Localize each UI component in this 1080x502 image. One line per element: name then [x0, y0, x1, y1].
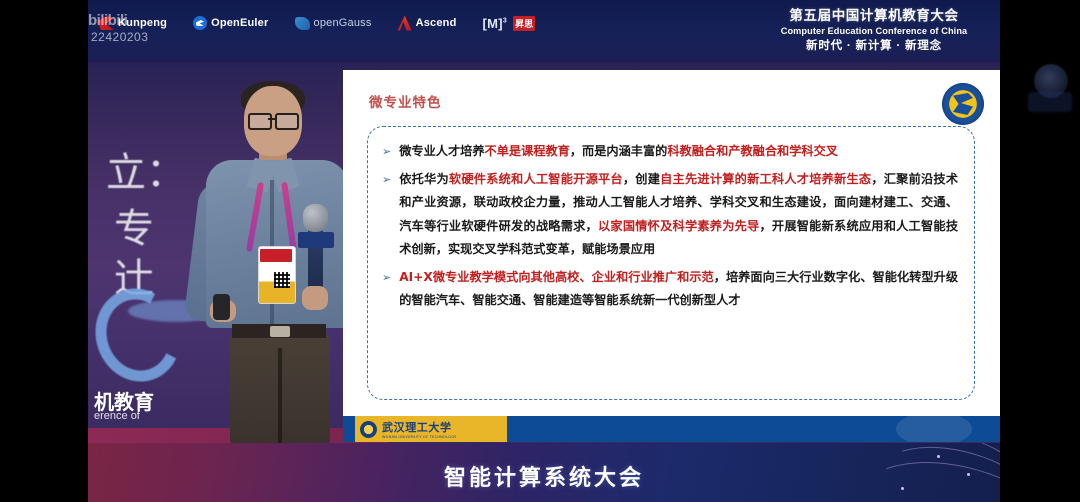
bullet-segment: 微专业人才培养 — [399, 144, 484, 158]
sponsor-label: OpenEuler — [211, 17, 268, 29]
bullet-segment-highlight: 软硬件系统和人工智能开源平台 — [449, 172, 623, 186]
slide-bullet-1: ➢ 微专业人才培养不单是课程教育，而是内涵丰富的科教融合和产教融合和学科交叉 — [368, 140, 974, 164]
slide-content-box: ➢ 微专业人才培养不单是课程教育，而是内涵丰富的科教融合和产教融合和学科交叉 ➢… — [367, 126, 975, 400]
bullet-arrow-icon: ➢ — [382, 140, 391, 164]
mindspore-label-cn: 昇思 — [513, 16, 535, 31]
right-letterbox-bar — [1000, 0, 1080, 502]
opengauss-icon — [295, 17, 310, 30]
bullet-segment-highlight: 以家国情怀及科学素养为先导 — [598, 219, 760, 233]
bullet-arrow-icon: ➢ — [382, 266, 391, 290]
bullet-segment: ，而是内涵丰富的 — [570, 144, 668, 158]
faint-logo-text-icon — [1028, 92, 1072, 112]
bullet-arrow-icon: ➢ — [382, 168, 391, 192]
slide-footer-university-logo: 武汉理工大学 WUHAN UNIVERSITY OF TECHNOLOGY — [355, 416, 507, 442]
qr-code-icon — [274, 272, 290, 288]
speaker-badge-header — [260, 249, 292, 262]
sponsor-logo-strip: Kunpeng OpenEuler openGauss Ascend [M]3 — [98, 10, 535, 36]
sponsor-label: openGauss — [314, 17, 372, 29]
microphone-head-icon — [303, 204, 328, 232]
sponsor-mindspore: [M]3 昇思 — [483, 12, 536, 34]
slide-bullet-3: ➢ AI+X微专业教学模式向其他高校、企业和行业推广和示范，培养面向三大行业数字… — [368, 266, 974, 313]
speaker-right-hand — [302, 286, 328, 310]
bullet-segment: 依托华为 — [399, 172, 449, 186]
eyeglasses-right-lens — [275, 113, 299, 130]
bullet-text: 依托华为软硬件系统和人工智能开源平台，创建自主先进计算的新工科人才培养新生态，汇… — [399, 168, 958, 262]
screenshot-root: 立： 专 辻 员会 员会 导委员 导委员会 机教育 erence of 第五届中… — [0, 0, 1080, 502]
speaker-belt-buckle — [270, 326, 290, 337]
bilibili-watermark: bilibili — [88, 12, 127, 29]
slide-footer-bar: 武汉理工大学 WUHAN UNIVERSITY OF TECHNOLOGY — [343, 416, 1000, 442]
conference-title-cn: 第五届中国计算机教育大会 — [748, 8, 1000, 24]
presentation-slide[interactable]: 微专业特色 ➢ 微专业人才培养不单是课程教育，而是内涵丰富的科教融合和产教融合和… — [343, 70, 1000, 442]
bullet-segment-highlight: AI+X微专业教学模式向其他高校、企业和行业推广和示范 — [399, 270, 714, 284]
bullet-segment-highlight: 不单是课程教育 — [485, 144, 570, 158]
speaker-leg-split — [278, 348, 282, 443]
conference-slogan: 新时代 · 新计算 · 新理念 — [748, 40, 1000, 53]
bullet-text: 微专业人才培养不单是课程教育，而是内涵丰富的科教融合和产教融合和学科交叉 — [399, 140, 958, 164]
bullet-text: AI+X微专业教学模式向其他高校、企业和行业推广和示范，培养面向三大行业数字化、… — [399, 266, 958, 313]
sponsor-ascend: Ascend — [398, 12, 457, 34]
ascend-icon — [398, 16, 412, 31]
slide-bullet-2: ➢ 依托华为软硬件系统和人工智能开源平台，创建自主先进计算的新工科人才培养新生态… — [368, 168, 974, 262]
bullet-segment: ，创建 — [623, 172, 660, 186]
university-name-en: WUHAN UNIVERSITY OF TECHNOLOGY — [382, 435, 456, 439]
sponsor-label: Ascend — [416, 17, 457, 29]
eyeglasses-bridge — [268, 118, 275, 120]
conference-header: 第五届中国计算机教育大会 Computer Education Conferen… — [748, 8, 1000, 53]
left-letterbox-bar — [0, 0, 88, 502]
openeuler-icon — [193, 16, 207, 30]
bilibili-uid: 22420203 — [91, 30, 148, 44]
slide-title: 微专业特色 — [369, 91, 442, 111]
eyeglasses-left-lens — [248, 113, 272, 130]
mindspore-icon: [M]3 — [483, 16, 508, 31]
bullet-segment-highlight: 自主先进计算的新工科人才培养新生态 — [660, 172, 871, 186]
university-name: 武汉理工大学 WUHAN UNIVERSITY OF TECHNOLOGY — [382, 419, 456, 439]
backdrop-c-logo-icon — [88, 277, 192, 392]
university-name-cn: 武汉理工大学 — [382, 421, 452, 434]
mindspore-sup: 3 — [503, 17, 507, 24]
banner-title: 智能计算系统大会 — [88, 460, 1000, 492]
bullet-segment-highlight: 科教融合和产教融合和学科交叉 — [667, 144, 838, 158]
backdrop-char: 立： — [106, 140, 186, 198]
university-seal-small-icon — [360, 421, 377, 438]
banner-spark — [937, 455, 940, 458]
microphone-flag — [298, 232, 334, 248]
slide-footer-watermark — [896, 412, 972, 442]
sponsor-opengauss: openGauss — [295, 12, 372, 34]
mindspore-label: [M] — [483, 16, 503, 31]
conference-title-en: Computer Education Conference of China — [748, 26, 1000, 37]
university-seal-icon — [942, 83, 984, 125]
presentation-clicker — [213, 294, 230, 320]
video-frame[interactable]: 立： 专 辻 员会 员会 导委员 导委员会 机教育 erence of 第五届中… — [88, 0, 1000, 502]
bottom-conference-banner: 智能计算系统大会 — [88, 443, 1000, 502]
backdrop-bottom-en: erence of — [94, 410, 140, 422]
sponsor-openeuler: OpenEuler — [193, 12, 268, 34]
